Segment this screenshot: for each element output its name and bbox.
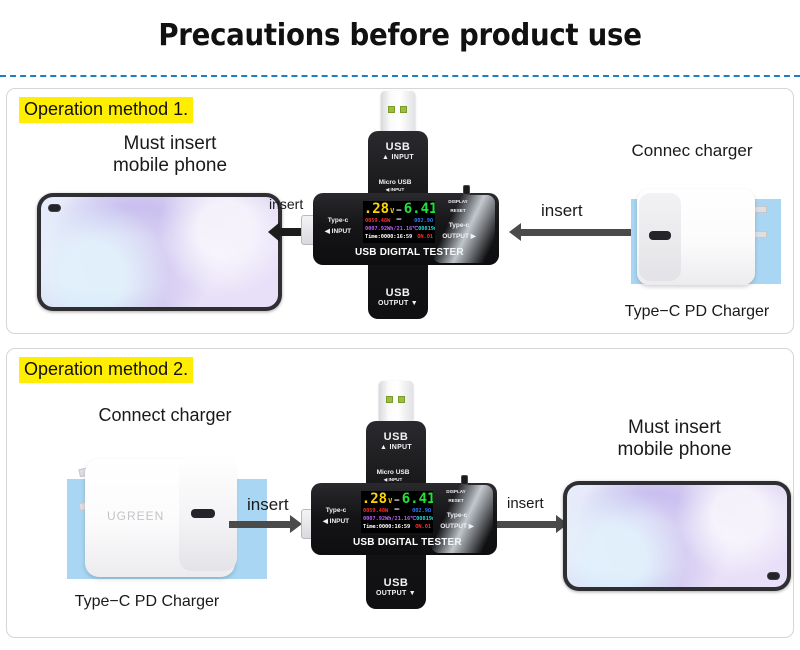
lcd-energy-value: 0007.92Wh/21.16℃ xyxy=(365,227,418,232)
tester-top-port-label: USB xyxy=(366,431,426,443)
method-2-tag: Operation method 2. xyxy=(19,357,193,383)
lcd-voltage-unit: V xyxy=(388,498,392,505)
tester-brand-label: USB DIGITAL TESTER xyxy=(355,247,441,258)
charger-usbc-port-icon xyxy=(191,509,215,518)
method-2-usb-tester: USB ▲ INPUT Micro USB ◀ INPUT Type-c ◀ I… xyxy=(323,381,503,621)
method-1-insert-right-arrow-icon xyxy=(520,229,635,236)
lcd-resistance-value: 002.9Ω xyxy=(412,509,431,514)
tester-lcd-screen: 9.28V −− 6.41A 0059.48W 002.9Ω 0007.92Wh… xyxy=(363,201,435,243)
tester-right-port-sublabel: OUTPUT ▶ xyxy=(433,232,485,240)
lcd-current-value: 6.41 xyxy=(402,492,433,506)
lcd-voltage-value: 9.28 xyxy=(361,492,387,506)
method-1-tag: Operation method 1. xyxy=(19,97,193,123)
tester-button-icon[interactable] xyxy=(463,185,470,195)
lcd-row-energy: 0007.92Wh/21.16℃ 00819mAh xyxy=(365,227,433,232)
tester-right-port-label: Type-c xyxy=(431,512,483,519)
lcd-row-power: 0059.48W 002.9Ω xyxy=(363,509,431,514)
tester-bottom-port-label: USB xyxy=(368,287,428,299)
method-2-insert-right-label: insert xyxy=(507,495,544,512)
lcd-current-value: 6.41 xyxy=(404,202,435,216)
page-title: Precautions before product use xyxy=(32,18,768,53)
tester-top-port-sublabel: ▲ INPUT xyxy=(366,444,426,451)
header-divider xyxy=(0,75,800,77)
tester-right-port-label: Type-c xyxy=(433,222,485,229)
camera-punch-hole-icon xyxy=(48,204,61,212)
method-2-insert-left-label: insert xyxy=(247,495,289,515)
tester-bottom-port-sublabel: OUTPUT ▼ xyxy=(366,590,426,597)
tester-button-icon[interactable] xyxy=(461,475,468,485)
tester-micro-usb-sublabel: ◀ INPUT xyxy=(363,187,427,193)
tester-display-button-label[interactable]: DISPLAY xyxy=(435,489,477,494)
usb-contact-pad-icon xyxy=(386,396,393,403)
method-2-phone-caption: Must insert mobile phone xyxy=(562,417,787,462)
method-1-insert-left-arrow-icon xyxy=(279,228,303,236)
lcd-time-value: Time:0000:16:59 xyxy=(363,525,410,530)
tester-left-port-label: Type-c xyxy=(313,507,359,514)
method-2-charger-caption: Connect charger xyxy=(35,405,295,426)
operation-method-1-panel: Operation method 1. Must insert mobile p… xyxy=(6,88,794,334)
tester-display-button-label[interactable]: DISPLAY xyxy=(437,199,479,204)
lcd-power-value: 0059.48W xyxy=(363,509,388,514)
method-1-usb-tester: USB ▲ INPUT Micro USB ◀ INPUT Type-c ◀ I… xyxy=(325,91,505,331)
tester-bottom-port-sublabel: OUTPUT ▼ xyxy=(368,300,428,307)
lcd-row-energy: 0007.92Wh/21.16℃ 00819mAh xyxy=(363,517,431,522)
tester-lcd-screen: 9.28V −− 6.41A 0059.48W 002.9Ω 0007.92Wh… xyxy=(361,491,433,533)
tester-left-port-sublabel: ◀ INPUT xyxy=(313,517,359,525)
camera-punch-hole-icon xyxy=(767,572,780,580)
lcd-voltage-unit: V xyxy=(390,208,394,215)
usb-contact-pad-icon xyxy=(398,396,405,403)
lcd-power-value: 0059.48W xyxy=(365,219,390,224)
lcd-row-time: Time:0000:16:59 ON.01 xyxy=(363,525,431,530)
phone-screen xyxy=(41,197,278,307)
tester-micro-usb-sublabel: ◀ INPUT xyxy=(361,477,425,483)
tester-reset-button-label[interactable]: RESET xyxy=(435,498,477,503)
lcd-row-power: 0059.48W 002.9Ω xyxy=(365,219,433,224)
lcd-group-value: ON.01 xyxy=(417,235,433,240)
tester-top-port-label: USB xyxy=(368,141,428,153)
lcd-resistance-value: 002.9Ω xyxy=(414,219,433,224)
tester-micro-usb-label: Micro USB xyxy=(361,469,425,476)
charger-brand-logo: UGREEN xyxy=(107,509,164,523)
charger-usbc-port-icon xyxy=(649,231,671,240)
precautions-infographic: Precautions before product use Operation… xyxy=(0,0,800,650)
lcd-capacity-value: 00819mAh xyxy=(416,517,433,522)
method-2-insert-right-arrow-icon xyxy=(497,521,557,528)
tester-left-port-label: Type-c xyxy=(315,217,361,224)
lcd-row-time: Time:0000:16:59 ON.01 xyxy=(365,235,433,240)
phone-screen xyxy=(567,485,787,587)
tester-left-port-sublabel: ◀ INPUT xyxy=(315,227,361,235)
lcd-energy-value: 0007.92Wh/21.16℃ xyxy=(363,517,416,522)
lcd-capacity-value: 00819mAh xyxy=(418,227,435,232)
lcd-group-value: ON.01 xyxy=(415,525,431,530)
method-1-charger-caption: Connec charger xyxy=(597,141,787,161)
usb-contact-pad-icon xyxy=(388,106,395,113)
method-1-mobile-phone xyxy=(37,193,282,311)
method-2-mobile-phone xyxy=(563,481,791,591)
method-2-charger-sublabel: Type−C PD Charger xyxy=(37,593,257,611)
method-1-insert-left-label: insert xyxy=(269,196,303,212)
lcd-time-value: Time:0000:16:59 xyxy=(365,235,412,240)
tester-right-port-sublabel: OUTPUT ▶ xyxy=(431,522,483,530)
method-1-charger xyxy=(619,179,789,299)
operation-method-2-panel: Operation method 2. Connect charger UGRE… xyxy=(6,348,794,638)
method-1-charger-sublabel: Type−C PD Charger xyxy=(607,303,787,321)
tester-reset-button-label[interactable]: RESET xyxy=(437,208,479,213)
method-1-insert-right-label: insert xyxy=(541,201,583,221)
tester-micro-usb-label: Micro USB xyxy=(363,179,427,186)
tester-bottom-port-label: USB xyxy=(366,577,426,589)
tester-brand-label: USB DIGITAL TESTER xyxy=(353,537,439,548)
usb-contact-pad-icon xyxy=(400,106,407,113)
tester-top-port-sublabel: ▲ INPUT xyxy=(368,154,428,161)
method-2-insert-left-arrow-icon xyxy=(229,521,291,528)
method-1-phone-caption: Must insert mobile phone xyxy=(65,133,275,178)
lcd-voltage-value: 9.28 xyxy=(363,202,389,216)
